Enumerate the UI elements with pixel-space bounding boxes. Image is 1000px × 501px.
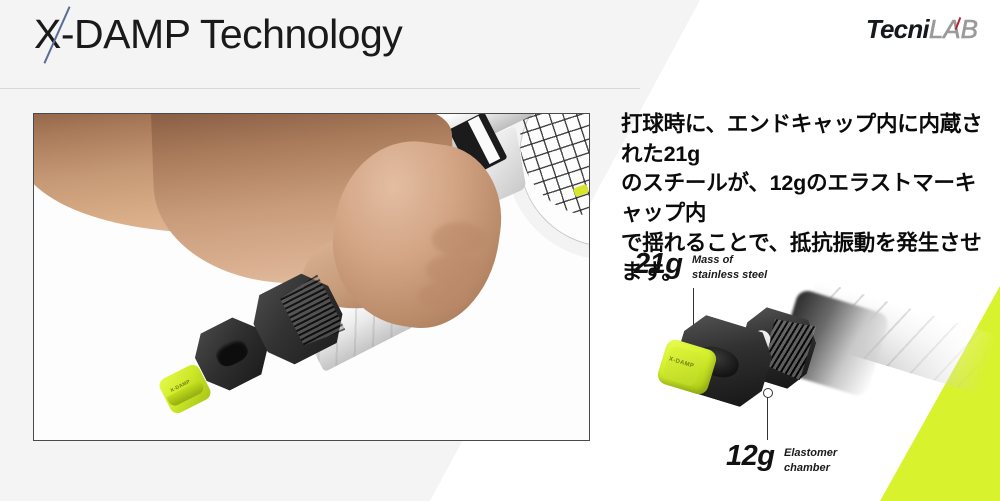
callout-12g-label-line-2: chamber: [784, 461, 894, 476]
slide-root: X-DAMP Technology TecniLAB: [0, 0, 1000, 501]
hand-knuckle: [426, 254, 484, 286]
header-divider: [0, 88, 640, 89]
product-detail-illustration: X-DAMP: [655, 300, 985, 420]
callout-12g-label: Elastomer chamber: [784, 446, 894, 476]
hero-photo-canvas: X-DAMP: [34, 114, 589, 440]
callout-21g-value: 21g: [634, 248, 682, 281]
page-title: X-DAMP Technology: [34, 12, 402, 57]
callout-21g-label-line-1: Mass of: [692, 253, 802, 268]
body-copy-line-1: 打球時に、エンドキャップ内に内蔵された21g: [621, 110, 989, 169]
callout-12g-value: 12g: [726, 440, 774, 473]
hand-knuckle: [432, 222, 486, 256]
callout-21g-label: Mass of stainless steel: [692, 253, 802, 283]
page-title-wrap: X-DAMP Technology: [34, 12, 402, 57]
body-copy-line-2: のスチールが、12gのエラストマーキャップ内: [621, 169, 989, 228]
hand-knuckle: [418, 282, 470, 310]
callout-12g-label-line-1: Elastomer: [784, 446, 894, 461]
brand-logo: TecniLAB: [866, 16, 978, 42]
brand-logo-primary: Tecni: [866, 14, 929, 44]
hero-photo-frame: X-DAMP: [33, 113, 590, 441]
brand-logo-secondary: LAB: [929, 14, 978, 44]
callout-21g-label-line-2: stainless steel: [692, 268, 802, 283]
